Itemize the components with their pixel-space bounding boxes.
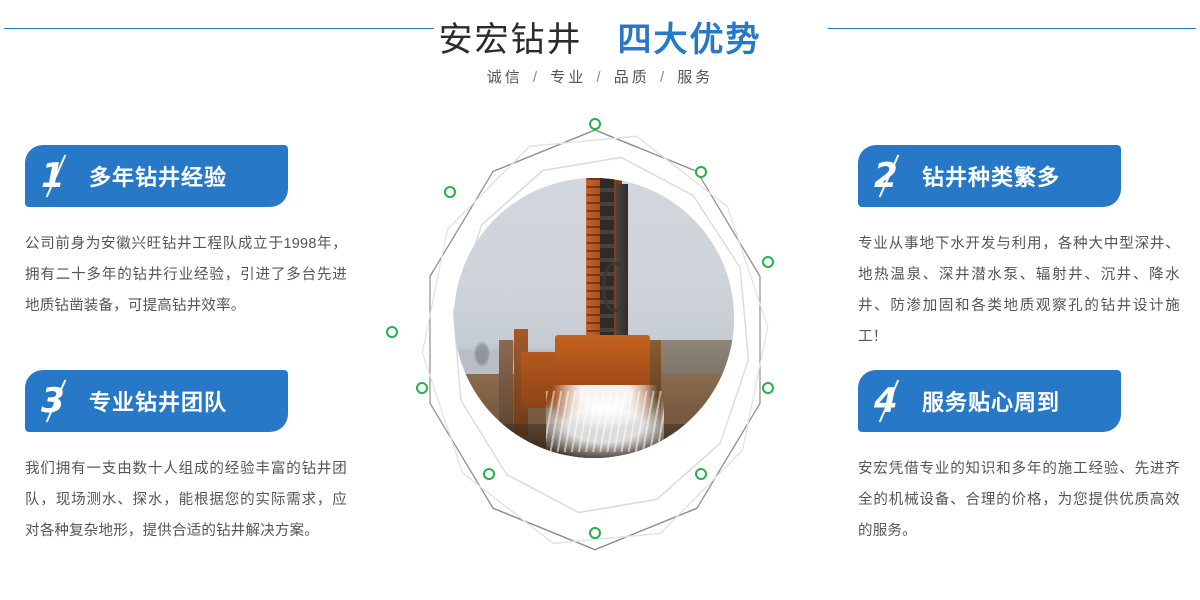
advantage-card-4: 4 服务贴心周到 安宏凭借专业的知识和多年的施工经验、先进齐全的机械设备、合理的… — [858, 370, 1188, 547]
decagon-node-left-mid — [387, 327, 397, 337]
photo-rig-leg-a — [499, 340, 513, 435]
decagon-node-upper-right — [696, 167, 706, 177]
page-title: 安宏钻井 四大优势 — [0, 12, 1200, 61]
advantage-badge-4: 4 服务贴心周到 — [858, 370, 1121, 432]
badge-number-icon-1: 1 — [41, 159, 87, 193]
advantage-card-1: 1 多年钻井经验 公司前身为安徽兴旺钻井工程队成立于1998年，拥有二十多年的钻… — [25, 145, 355, 322]
advantage-body-3: 我们拥有一支由数十人组成的经验丰富的钻井团队，现场测水、探水，能根据您的实际需求… — [25, 454, 347, 547]
decagon-node-top — [590, 119, 600, 129]
center-graphic — [370, 100, 820, 570]
advantage-body-2: 专业从事地下水开发与利用，各种大中型深井、地热温泉、深井潜水泵、辐射井、沉井、降… — [858, 229, 1180, 353]
advantage-title-2: 钻井种类繁多 — [922, 160, 1060, 192]
subtitle-item-2: 专业 — [550, 69, 586, 86]
subtitle-separator-2: / — [593, 69, 606, 86]
drilling-rig-photo — [454, 178, 734, 458]
advantage-body-1: 公司前身为安徽兴旺钻井工程队成立于1998年，拥有二十多年的钻井行业经验，引进了… — [25, 229, 347, 322]
badge-number-icon-3: 3 — [41, 384, 87, 418]
decagon-node-left-lower — [417, 383, 427, 393]
photo-rig-hose — [602, 262, 627, 312]
advantage-body-4: 安宏凭借专业的知识和多年的施工经验、先进齐全的机械设备、合理的价格，为您提供优质… — [858, 454, 1180, 547]
page-header: 安宏钻井 四大优势 诚信 / 专业 / 品质 / 服务 — [0, 0, 1200, 110]
advantage-card-3: 3 专业钻井团队 我们拥有一支由数十人组成的经验丰富的钻井团队，现场测水、探水，… — [25, 370, 355, 547]
advantage-title-4: 服务贴心周到 — [922, 385, 1060, 417]
decagon-node-lower-left — [484, 469, 494, 479]
decagon-node-lower-right — [696, 469, 706, 479]
advantage-badge-3: 3 专业钻井团队 — [25, 370, 288, 432]
subtitle-separator-1: / — [530, 69, 543, 86]
advantage-title-1: 多年钻井经验 — [89, 160, 227, 192]
page-title-highlight: 四大优势 — [617, 21, 761, 59]
advantage-card-2: 2 钻井种类繁多 专业从事地下水开发与利用，各种大中型深井、地热温泉、深井潜水泵… — [858, 145, 1188, 353]
subtitle-item-1: 诚信 — [487, 69, 523, 86]
subtitle-separator-3: / — [657, 69, 670, 86]
badge-number-icon-2: 2 — [874, 159, 920, 193]
photo-water-streaks — [546, 391, 664, 453]
badge-number-icon-4: 4 — [874, 384, 920, 418]
advantage-badge-2: 2 钻井种类繁多 — [858, 145, 1121, 207]
decagon-node-bottom — [590, 528, 600, 538]
advantage-title-3: 专业钻井团队 — [89, 385, 227, 417]
advantage-badge-1: 1 多年钻井经验 — [25, 145, 288, 207]
page-title-company: 安宏钻井 — [439, 21, 583, 59]
subtitle-item-4: 服务 — [677, 69, 713, 86]
subtitle-item-3: 品质 — [614, 69, 650, 86]
page-subtitle: 诚信 / 专业 / 品质 / 服务 — [0, 66, 1200, 87]
decagon-node-right-upper — [763, 257, 773, 267]
decagon-node-right-lower — [763, 383, 773, 393]
